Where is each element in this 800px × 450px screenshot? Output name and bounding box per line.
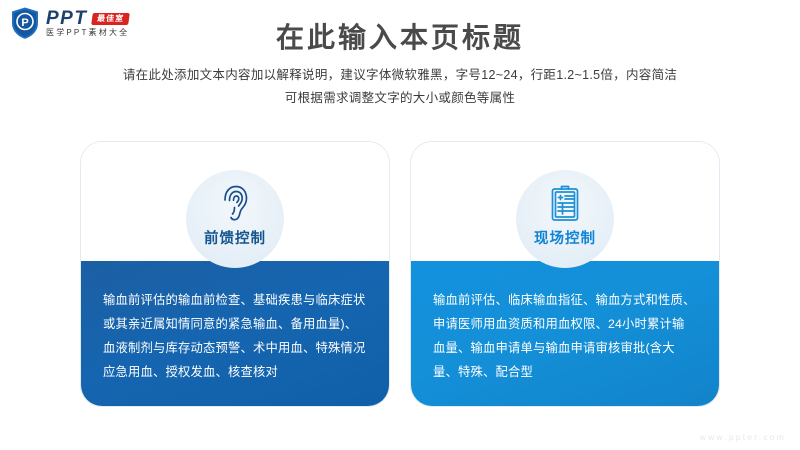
icon-badge-left: 前馈控制 <box>186 170 284 268</box>
watermark: www.ppter.com <box>700 432 786 442</box>
ear-icon <box>213 182 257 226</box>
page-subtitle: 请在此处添加文本内容加以解释说明，建议字体微软雅黑，字号12~24，行距1.2~… <box>0 64 800 110</box>
card-text-right: 输血前评估、临床输血指征、输血方式和性质、申请医师用血资质和用血权限、24小时累… <box>433 289 697 385</box>
card-row: 前馈控制 输血前评估的输血前检查、基础疾患与临床症状或其亲近属知情同意的紧急输血… <box>80 141 720 407</box>
icon-badge-right: 现场控制 <box>516 170 614 268</box>
page-title: 在此输入本页标题 <box>0 16 800 56</box>
card-body-left: 输血前评估的输血前检查、基础疾患与临床症状或其亲近属知情同意的紧急输血、备用血量… <box>81 261 389 407</box>
card-onsite-control[interactable]: 现场控制 输血前评估、临床输血指征、输血方式和性质、申请医师用血资质和用血权限、… <box>410 141 720 407</box>
card-label-right: 现场控制 <box>534 227 596 248</box>
card-label-left: 前馈控制 <box>204 227 266 248</box>
subtitle-line-2: 可根据需求调整文字的大小或颜色等属性 <box>0 87 800 110</box>
card-body-right: 输血前评估、临床输血指征、输血方式和性质、申请医师用血资质和用血权限、24小时累… <box>411 261 719 407</box>
subtitle-line-1: 请在此处添加文本内容加以解释说明，建议字体微软雅黑，字号12~24，行距1.2~… <box>0 64 800 87</box>
card-feedforward-control[interactable]: 前馈控制 输血前评估的输血前检查、基础疾患与临床症状或其亲近属知情同意的紧急输血… <box>80 141 390 407</box>
card-text-left: 输血前评估的输血前检查、基础疾患与临床症状或其亲近属知情同意的紧急输血、备用血量… <box>103 289 367 385</box>
clipboard-checklist-icon <box>543 182 587 226</box>
